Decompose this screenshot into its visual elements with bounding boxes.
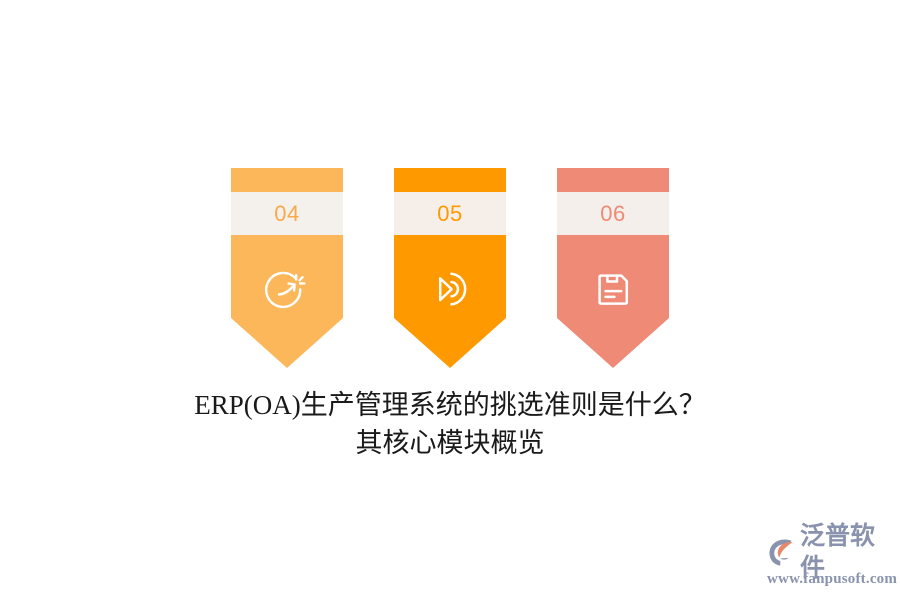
broadcast-signal-icon (427, 266, 473, 312)
fanpu-c-leaf-logo-icon (766, 536, 798, 568)
banner-card-04[interactable]: 04 (231, 168, 343, 368)
banner-number-05: 05 (437, 203, 462, 225)
brand-url: www.fanpusoft.com (766, 571, 894, 588)
document-save-icon (590, 266, 636, 312)
banner-card-06[interactable]: 06 (557, 168, 669, 368)
number-band-04: 04 (231, 192, 343, 235)
brand-logo[interactable]: 泛普软件 www.fanpusoft.com (766, 534, 894, 592)
banner-group: 04 05 (231, 168, 669, 370)
page-title: ERP(OA)生产管理系统的挑选准则是什么？ 其核心模块概览 (0, 386, 900, 462)
infographic-canvas: 04 05 (0, 0, 900, 600)
growth-arrow-circle-icon (264, 266, 310, 312)
page-title-line-1: ERP(OA)生产管理系统的挑选准则是什么？ (0, 386, 900, 424)
banner-number-04: 04 (274, 203, 299, 225)
page-title-line-2: 其核心模块概览 (0, 424, 900, 462)
number-band-06: 06 (557, 192, 669, 235)
banner-number-06: 06 (600, 203, 625, 225)
brand-logo-row: 泛普软件 (766, 534, 894, 570)
number-band-05: 05 (394, 192, 506, 235)
banner-card-05[interactable]: 05 (394, 168, 506, 368)
